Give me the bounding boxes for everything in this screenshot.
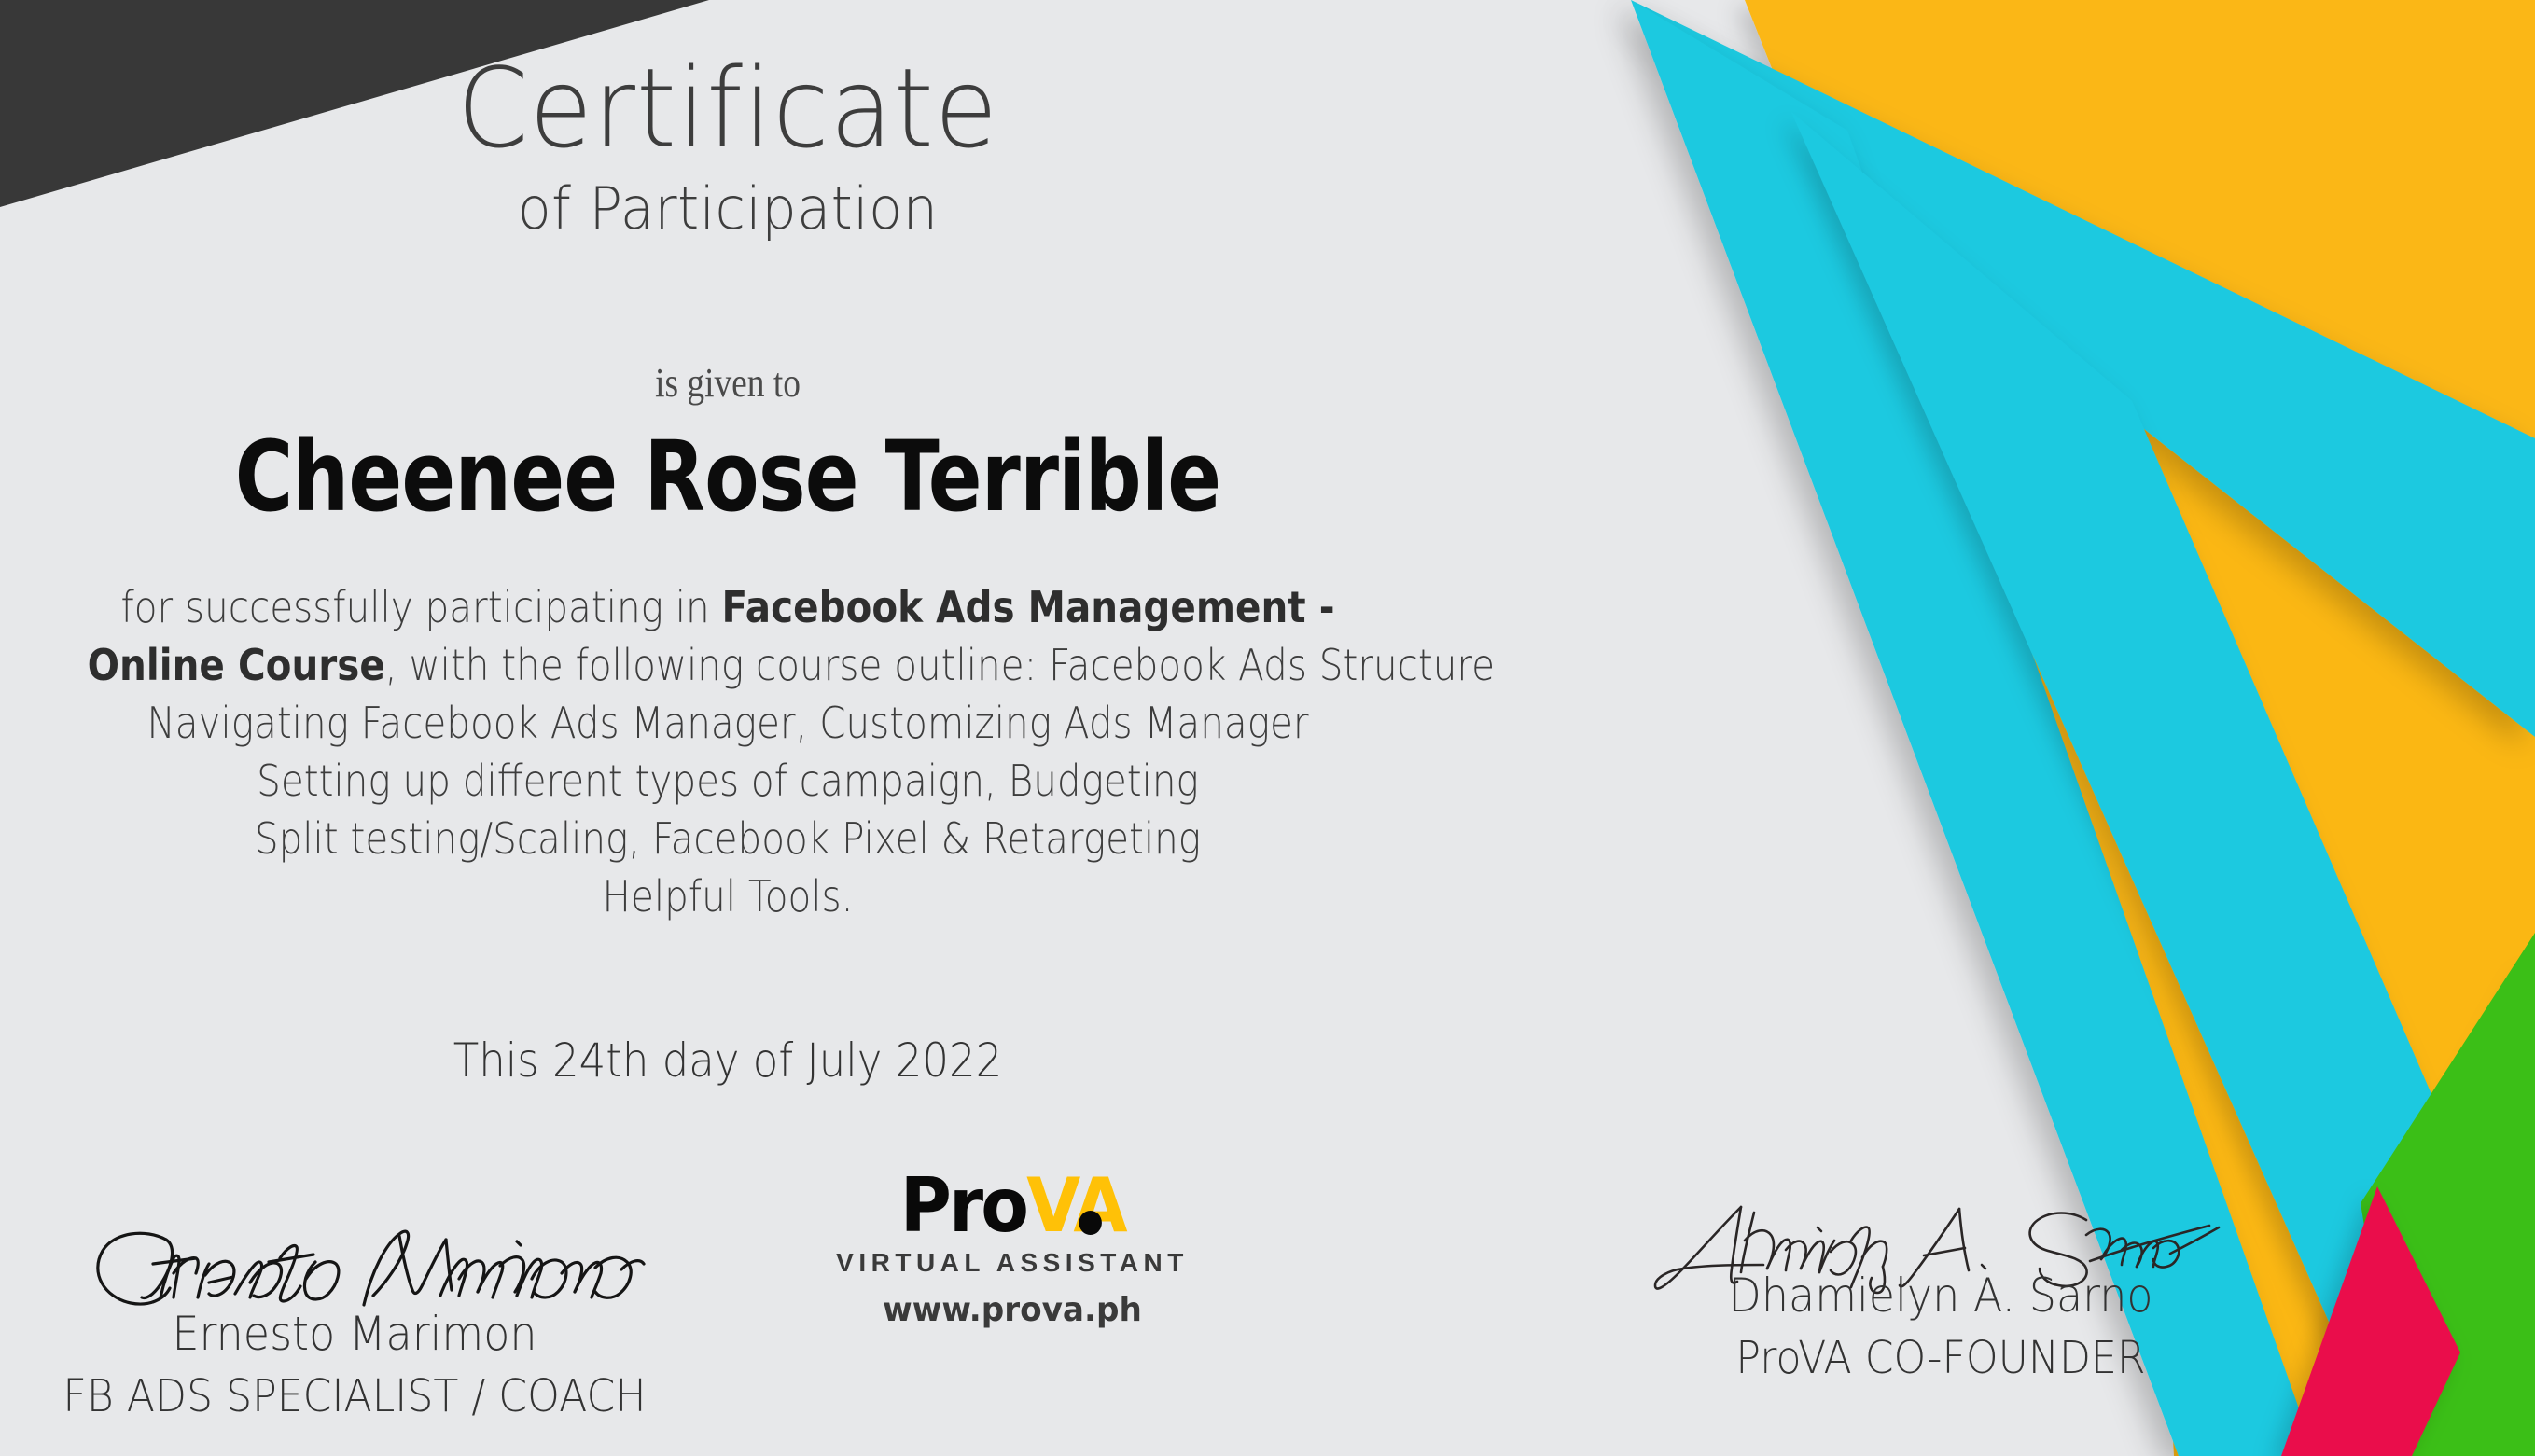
recipient-name: Cheenee Rose Terrible — [131, 420, 1324, 534]
body-line-2-rest: , with the following course outline: Fac… — [385, 640, 1495, 690]
title-block: Certificate of Participation — [0, 51, 1456, 243]
logo-text-va: VA — [1026, 1162, 1125, 1249]
body-text: for successfully participating in Facebo… — [0, 578, 1456, 925]
signature-role-right: ProVA CO-FOUNDER — [1640, 1332, 2241, 1384]
signature-name-left: Ernesto Marimon — [37, 1307, 673, 1361]
body-line-6: Helpful Tools. — [88, 867, 1369, 925]
certificate-page: Certificate of Participation is given to… — [0, 0, 2535, 1456]
signature-block-left: Ernesto Marimon FB ADS SPECIALIST / COAC… — [9, 1227, 700, 1422]
logo-website-url: www.prova.ph — [756, 1291, 1270, 1329]
page-subtitle: of Participation — [36, 174, 1419, 243]
body-line-3: Navigating Facebook Ads Manager, Customi… — [88, 694, 1369, 752]
logo-tagline: VIRTUAL ASSISTANT — [742, 1248, 1283, 1278]
body-line-4: Setting up different types of campaign, … — [88, 752, 1369, 810]
handwritten-signature-icon — [56, 1227, 653, 1316]
body-line-2-bold: Online Course — [88, 640, 385, 690]
signature-role-left: FB ADS SPECIALIST / COACH — [37, 1370, 673, 1422]
given-to-label: is given to — [109, 359, 1346, 407]
body-line-1-bold: Facebook Ads Management - — [722, 582, 1335, 632]
logo-dot-icon — [1079, 1211, 1102, 1235]
logo-text-pro: Pro — [899, 1162, 1025, 1249]
signature-block-right: Dhamielyn A. Sarno ProVA CO-FOUNDER — [1614, 1203, 2267, 1384]
signature-name-right: Dhamielyn A. Sarno — [1640, 1269, 2241, 1323]
body-line-5: Split testing/Scaling, Facebook Pixel & … — [88, 810, 1369, 867]
body-line-1: for successfully participating in Facebo… — [88, 578, 1369, 636]
page-title: Certificate — [51, 51, 1405, 167]
signature-script-left — [9, 1227, 700, 1316]
logo-wordmark: ProVA — [899, 1166, 1124, 1246]
body-line-2: Online Course, with the following course… — [88, 636, 1369, 694]
date-line: This 24th day of July 2022 — [73, 1033, 1383, 1088]
prova-logo: ProVA VIRTUAL ASSISTANT www.prova.ph — [742, 1166, 1283, 1329]
body-line-1-prefix: for successfully participating in — [120, 582, 721, 632]
